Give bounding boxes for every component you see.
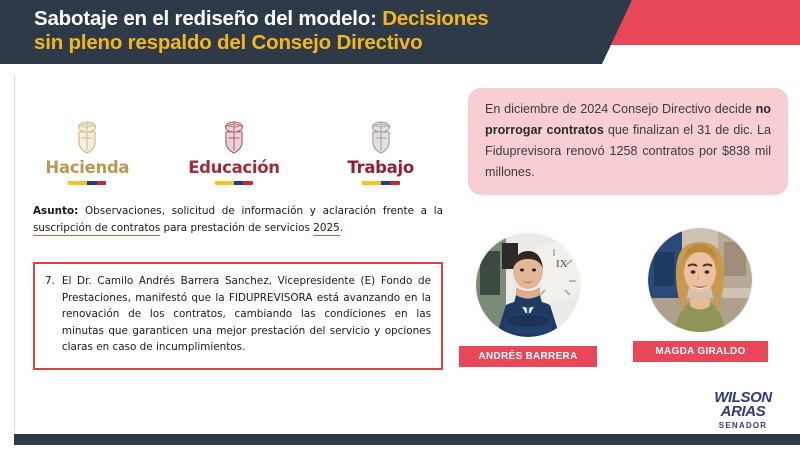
- colombia-flag-bar: [362, 181, 400, 185]
- highlighted-quote-box: 7. El Dr. Camilo Andrés Barrera Sanchez,…: [33, 262, 443, 370]
- svg-text:IX: IX: [556, 258, 568, 270]
- person-card-magda-giraldo: MAGDA GIRALDO: [648, 228, 768, 362]
- pink-callout-box: En diciembre de 2024 Consejo Directivo d…: [468, 88, 788, 195]
- asunto-text-c: .: [340, 222, 343, 234]
- colombia-flag-bar: [68, 181, 106, 185]
- asunto-underlined-2: 2025: [313, 222, 339, 236]
- asunto-label: Asunto:: [33, 205, 78, 217]
- asunto-paragraph: Asunto: Observaciones, solicitud de info…: [33, 203, 443, 237]
- slide-root: Sabotaje en el rediseño del modelo: Deci…: [0, 0, 800, 451]
- logo-educacion-label: Educación: [188, 158, 280, 177]
- header-accent-shape: [604, 0, 800, 45]
- quote-text: El Dr. Camilo Andrés Barrera Sanchez, Vi…: [62, 273, 431, 356]
- title-highlight: Decisiones: [382, 7, 488, 30]
- brand-line-2: ARIAS: [700, 405, 786, 419]
- asunto-text-a: Observaciones, solicitud de información …: [78, 205, 443, 217]
- person-name-badge: MAGDA GIRALDO: [633, 341, 768, 362]
- avatar: [648, 228, 752, 332]
- logo-hacienda: Hacienda: [27, 119, 147, 185]
- colombia-coat-of-arms-icon: [219, 119, 249, 157]
- portrait-man-navy-suit-image: IX: [476, 233, 580, 337]
- brand-logo-wilson-arias: WILSON ARIAS SENADOR: [700, 391, 786, 432]
- asunto-text-b: para prestación de servicios: [160, 222, 313, 234]
- title-line-2: sin pleno respaldo del Consejo Directivo: [34, 31, 422, 54]
- slide-header: Sabotaje en el rediseño del modelo: Deci…: [0, 0, 800, 72]
- logo-educacion: Educación: [174, 119, 294, 185]
- callout-text-a: En diciembre de 2024 Consejo Directivo d…: [485, 102, 756, 116]
- brand-line-3: SENADOR: [700, 420, 786, 432]
- logo-hacienda-label: Hacienda: [45, 158, 129, 177]
- logo-trabajo: Trabajo: [321, 119, 441, 185]
- avatar: IX: [476, 233, 580, 337]
- footer-bar: [14, 434, 800, 445]
- portrait-woman-blonde-image: [648, 228, 752, 332]
- person-card-andres-barrera: IX ANDRÉS BARRERA: [476, 233, 597, 367]
- quote-number: 7.: [45, 273, 55, 356]
- colombia-flag-bar: [215, 181, 253, 185]
- page-title: Sabotaje en el rediseño del modelo: Deci…: [34, 7, 614, 55]
- colombia-coat-of-arms-icon: [366, 119, 396, 157]
- ministry-logos: Hacienda Educación: [14, 97, 454, 185]
- asunto-underlined-1: suscripción de contratos: [33, 222, 160, 236]
- title-part-1: Sabotaje en el rediseño del modelo:: [34, 7, 377, 30]
- callout-paragraph: En diciembre de 2024 Consejo Directivo d…: [485, 99, 771, 183]
- logo-trabajo-label: Trabajo: [347, 158, 414, 177]
- person-name-badge: ANDRÉS BARRERA: [459, 346, 597, 367]
- colombia-coat-of-arms-icon: [72, 119, 102, 157]
